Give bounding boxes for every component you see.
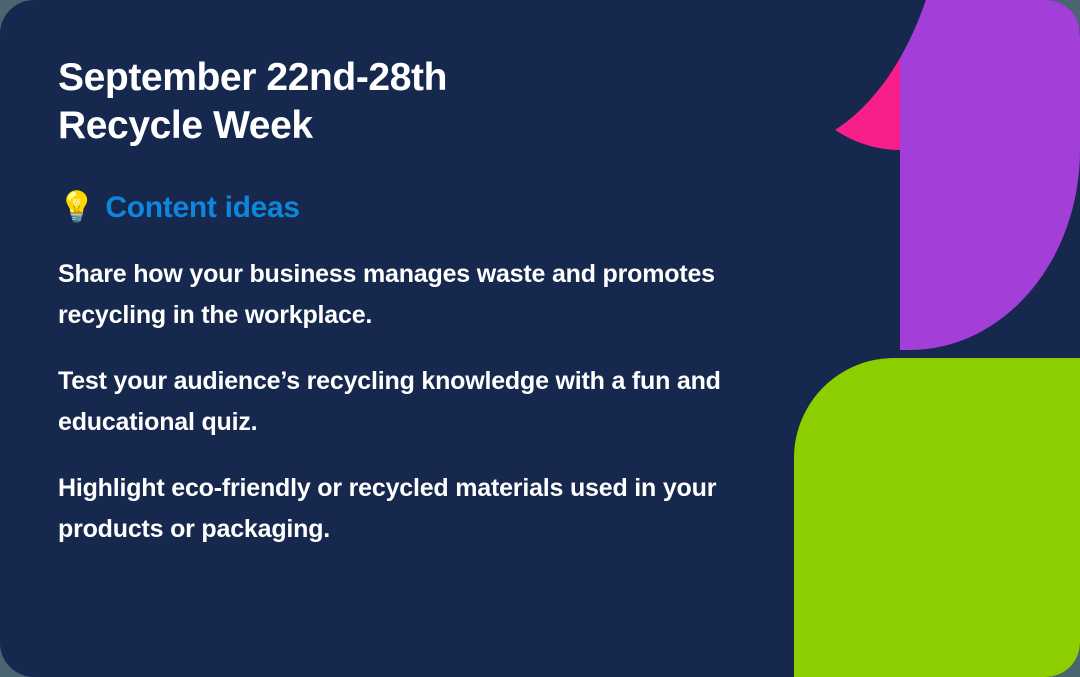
idea-item: Test your audience’s recycling knowledge… <box>58 361 748 443</box>
green-rounded-block-shape <box>794 358 1080 677</box>
idea-item: Highlight eco-friendly or recycled mater… <box>58 468 748 550</box>
title-line-1: September 22nd-28th <box>58 56 447 99</box>
title-line-2: Recycle Week <box>58 104 313 147</box>
lightbulb-icon: 💡 <box>58 193 95 223</box>
purple-notch-shape <box>770 0 948 150</box>
card-content: September 22nd-28th Recycle Week 💡 Conte… <box>58 54 748 550</box>
content-ideas-card: September 22nd-28th Recycle Week 💡 Conte… <box>0 0 1080 677</box>
content-ideas-label: Content ideas <box>105 193 299 223</box>
purple-rounded-block-shape <box>900 0 1080 350</box>
content-ideas-heading: 💡 Content ideas <box>58 193 748 223</box>
idea-item: Share how your business manages waste an… <box>58 254 748 336</box>
page-title: September 22nd-28th Recycle Week <box>58 54 748 150</box>
pink-quarter-circle-shape <box>770 0 900 150</box>
